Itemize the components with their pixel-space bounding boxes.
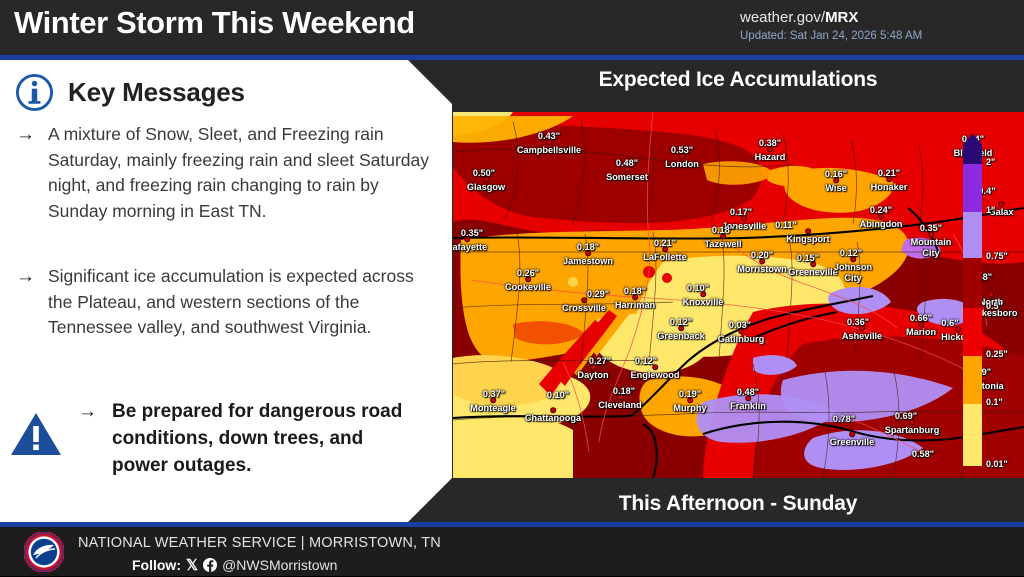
- city-marker-dot: [849, 431, 855, 437]
- colorbar-tick-label: 0.5": [986, 301, 1003, 311]
- key-messages-header: Key Messages: [14, 72, 245, 113]
- body-zone: Key Messages → A mixture of Snow, Sleet,…: [0, 60, 1024, 522]
- ice-accumulation-value: 0.20": [751, 250, 773, 260]
- city-label: Mountain City: [908, 237, 954, 258]
- ice-accumulation-value: 0.6": [941, 318, 958, 328]
- colorbar-tick-label: 0.75": [986, 251, 1008, 261]
- ice-accumulation-value: 0.15": [797, 253, 819, 263]
- city-label: Englewood: [631, 370, 680, 381]
- ice-accumulation-value: 0.10": [687, 283, 709, 293]
- colorbar-segment: [963, 308, 982, 356]
- city-label: Marion: [906, 327, 936, 338]
- city-label: Cookeville: [505, 282, 551, 293]
- city-label: Abingdon: [860, 219, 903, 230]
- info-circle-icon: [14, 72, 55, 113]
- ice-accumulation-value: 0.35": [461, 228, 483, 238]
- ice-accumulation-value: 0.27": [589, 356, 611, 366]
- follow-label: Follow:: [132, 557, 181, 573]
- ice-accumulation-colorbar: [963, 134, 982, 466]
- follow-line: Follow: 𝕏 @NWSMorristown: [132, 556, 337, 574]
- map-panel: Expected Ice Accumulations: [452, 60, 1024, 522]
- colorbar-segment: [963, 134, 982, 164]
- key-messages-panel: Key Messages → A mixture of Snow, Sleet,…: [0, 60, 452, 522]
- ice-accumulation-value: 0.29": [587, 289, 609, 299]
- office-name: NATIONAL WEATHER SERVICE | MORRISTOWN, T…: [78, 535, 441, 551]
- city-label: Campbellsville: [517, 145, 581, 156]
- city-label: Tazewell: [704, 239, 741, 250]
- map-valid-period: This Afternoon - Sunday: [452, 492, 1024, 516]
- ice-accumulation-value: 0.18": [613, 386, 635, 396]
- key-message-bullet-2: → Significant ice accumulation is expect…: [16, 264, 440, 341]
- map-title: Expected Ice Accumulations: [452, 68, 1024, 92]
- graphic-canvas: Winter Storm This Weekend weather.gov/MR…: [0, 0, 1024, 576]
- arrow-right-icon: →: [16, 264, 38, 341]
- city-label: Honaker: [871, 182, 908, 193]
- city-label: LaFollette: [643, 252, 686, 263]
- city-label: Dayton: [577, 370, 608, 381]
- colorbar-segment: [963, 258, 982, 308]
- ice-accumulation-value: 0.10": [547, 390, 569, 400]
- ice-accumulation-map[interactable]: 0.43"Campbellsville0.50"Glasgow0.48"Some…: [453, 112, 1024, 478]
- city-label: London: [665, 159, 699, 170]
- social-handle[interactable]: @NWSMorristown: [222, 557, 337, 573]
- ice-accumulation-value: 0.50": [473, 168, 495, 178]
- ice-accumulation-value: 0.69": [895, 411, 917, 421]
- colorbar-segment: [963, 164, 982, 212]
- colorbar-tick-label: 0.01": [986, 459, 1008, 469]
- ice-accumulation-value: 0.26": [517, 268, 539, 278]
- ice-accumulation-value: 0.11": [775, 220, 797, 230]
- city-label: Chattanooga: [525, 413, 581, 424]
- ice-accumulation-value: 0.36": [847, 317, 869, 327]
- arrow-right-icon: →: [16, 122, 38, 224]
- ice-accumulation-value: 0.78": [833, 414, 855, 424]
- weather-gov-url: weather.gov/MRX: [740, 8, 1000, 27]
- warning-body: → Be prepared for dangerous road conditi…: [78, 398, 412, 479]
- ice-accumulation-value: 0.18": [624, 286, 646, 296]
- warning-callout: → Be prepared for dangerous road conditi…: [10, 398, 412, 479]
- key-message-text-2: Significant ice accumulation is expected…: [48, 264, 434, 341]
- header-bar: Winter Storm This Weekend weather.gov/MR…: [0, 0, 1024, 55]
- colorbar-tick-label: 1": [986, 205, 995, 215]
- ice-accumulation-value: 0.19": [679, 389, 701, 399]
- key-message-text-1: A mixture of Snow, Sleet, and Freezing r…: [48, 122, 430, 224]
- colorbar-segment: [963, 212, 982, 258]
- city-marker-dot: [998, 201, 1004, 207]
- city-label: Cleveland: [598, 400, 641, 411]
- colorbar-tick-label: 0.25": [986, 349, 1008, 359]
- city-label: Asheville: [842, 331, 882, 342]
- ice-accumulation-value: 0.24": [870, 205, 892, 215]
- ice-accumulation-value: 0.18": [577, 242, 599, 252]
- ice-accumulation-value: 0.12": [670, 317, 692, 327]
- city-label: Harriman: [615, 300, 655, 311]
- ice-accumulation-value: 0.18": [712, 225, 734, 235]
- ice-accumulation-value: 0.37": [483, 389, 505, 399]
- key-message-bullet-1: → A mixture of Snow, Sleet, and Freezing…: [16, 122, 436, 224]
- x-twitter-icon[interactable]: 𝕏: [186, 556, 198, 574]
- key-messages-title: Key Messages: [68, 77, 245, 108]
- ice-accumulation-value: 0.48": [737, 387, 759, 397]
- city-label: Greenback: [657, 331, 705, 342]
- city-label: Monteagle: [470, 403, 515, 414]
- city-label: Crossville: [562, 303, 606, 314]
- city-marker-dot: [988, 291, 994, 297]
- ice-accumulation-value: 0.35": [920, 223, 942, 233]
- colorbar-segment: [963, 404, 982, 466]
- city-marker-dot: [550, 407, 556, 413]
- warning-text: Be prepared for dangerous road condition…: [112, 398, 412, 479]
- city-label: Somerset: [606, 172, 648, 183]
- updated-timestamp: Updated: Sat Jan 24, 2026 5:48 AM: [740, 29, 1000, 44]
- header-meta: weather.gov/MRX Updated: Sat Jan 24, 202…: [740, 8, 1000, 44]
- ice-accumulation-value: 0.38": [759, 138, 781, 148]
- ice-accumulation-value: 0.53": [671, 145, 693, 155]
- office-id: MRX: [825, 9, 858, 26]
- arrow-right-icon: →: [78, 398, 100, 479]
- city-label: Johnson City: [830, 262, 876, 283]
- city-label: Knoxville: [683, 297, 724, 308]
- ice-accumulation-value: 0.03": [729, 320, 751, 330]
- ice-accumulation-value: 0.12": [635, 356, 657, 366]
- city-marker-dot: [805, 228, 811, 234]
- facebook-icon[interactable]: [203, 557, 217, 573]
- city-label: Glasgow: [467, 182, 505, 193]
- city-label: Morristown: [737, 264, 787, 275]
- city-label: Lafayette: [453, 242, 487, 253]
- nws-logo-icon: [24, 532, 64, 572]
- city-label: Wise: [825, 183, 846, 194]
- city-label: Hazard: [755, 152, 786, 163]
- ice-accumulation-value: 0.48": [616, 158, 638, 168]
- city-label: Greenville: [830, 437, 874, 448]
- city-label: Franklin: [730, 401, 766, 412]
- colorbar-tick-label: 0.1": [986, 397, 1003, 407]
- ice-accumulation-value: 0.21": [654, 238, 676, 248]
- city-label: Murphy: [673, 403, 706, 414]
- footer-bar: NATIONAL WEATHER SERVICE | MORRISTOWN, T…: [0, 527, 1024, 576]
- ice-accumulation-value: 0.12": [840, 248, 862, 258]
- page-title: Winter Storm This Weekend: [14, 5, 415, 41]
- ice-accumulation-value: 0.66": [910, 313, 932, 323]
- city-label: Gatlinburg: [718, 334, 764, 345]
- ice-accumulation-value: 0.17": [730, 207, 752, 217]
- ice-accumulation-value: 0.21": [878, 168, 900, 178]
- ice-accumulation-value: 0.16": [825, 169, 847, 179]
- city-label: 0.58": [912, 449, 934, 460]
- ice-accumulation-value: 0.43": [538, 131, 560, 141]
- url-prefix: weather.gov/: [740, 9, 825, 26]
- warning-triangle-icon: [10, 410, 62, 458]
- city-label: Spartanburg: [885, 425, 940, 436]
- colorbar-tick-label: 2": [986, 157, 995, 167]
- city-label: Jamestown: [563, 256, 613, 267]
- city-label: Kingsport: [786, 234, 829, 245]
- colorbar-segment: [963, 356, 982, 404]
